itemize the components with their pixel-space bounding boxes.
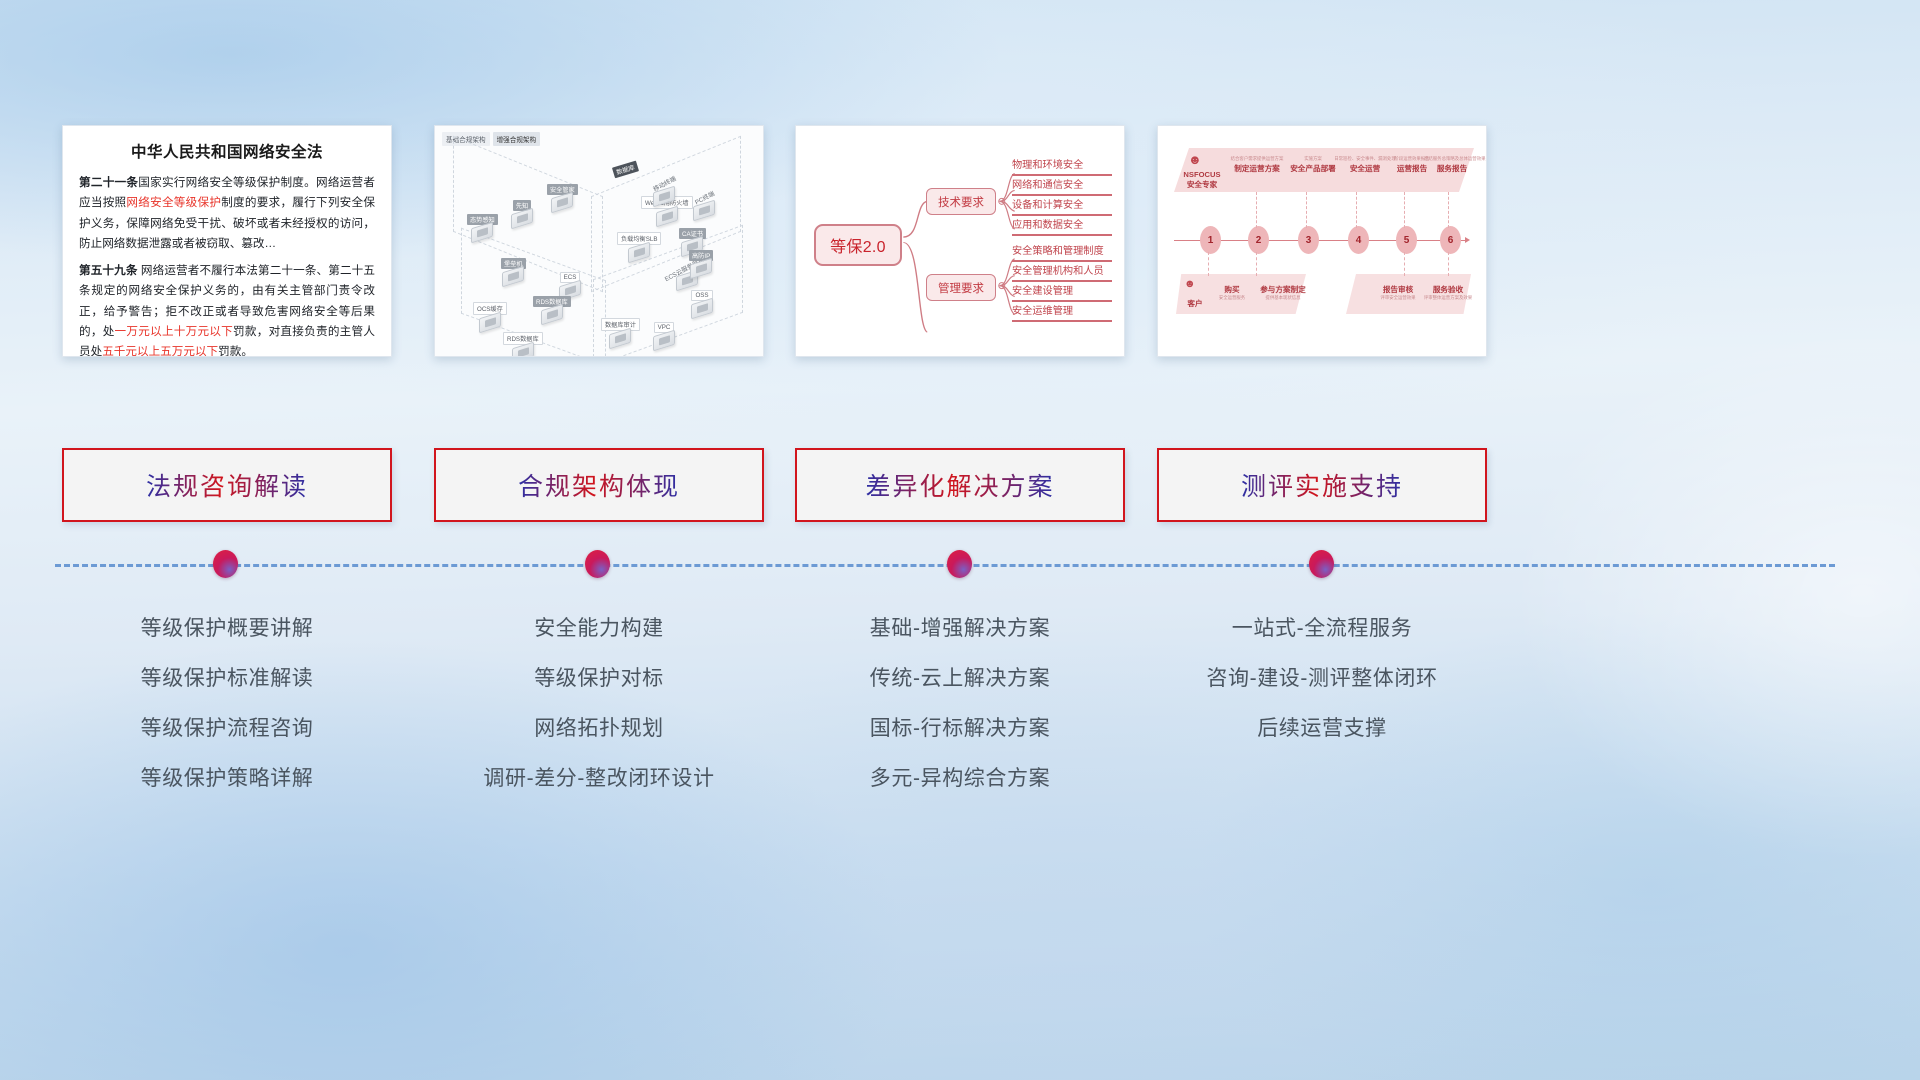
list-item[interactable]: 等级保护概要讲解 xyxy=(62,604,392,654)
card-architecture-diagram[interactable]: 基础合规架构 增强合规架构 数据库 安全管家 先知 态势感知 xyxy=(434,125,764,357)
node-anqishi: RDS数据库 xyxy=(533,296,571,322)
list-item[interactable]: 国标-行标解决方案 xyxy=(795,704,1125,754)
list-item[interactable]: 多元-异构综合方案 xyxy=(795,754,1125,804)
mindmap-leaf-construction: 安全建设管理 xyxy=(1012,286,1112,302)
node-situational-awareness: 态势感知 xyxy=(467,214,498,240)
expert-person-icon: ☻ xyxy=(1188,152,1202,167)
article-59-highlight-2: 五千元以上五万元以下 xyxy=(102,345,218,357)
title-box-regulation-consulting[interactable]: 法规咨询解读 xyxy=(62,448,392,522)
nsfocus-step-5: 总结服务总策略及总体运营效果 服务报告 xyxy=(1424,156,1480,174)
list-item[interactable]: 咨询-建设-测评整体闭环 xyxy=(1157,654,1487,704)
mindmap-leaf-policy: 安全策略和管理制度 xyxy=(1012,246,1112,262)
nsfocus-expert: NSFOCUS 安全专家 xyxy=(1176,170,1228,190)
architecture-canvas: 基础合规架构 增强合规架构 数据库 安全管家 先知 态势感知 xyxy=(435,126,763,356)
title-boxes-row: 法规咨询解读 合规架构体现 差异化解决方案 测评实施支持 xyxy=(0,448,1920,522)
timeline-marker-4[interactable] xyxy=(1309,550,1334,578)
title-text-2: 合规架构体现 xyxy=(518,467,680,503)
node-vpc: VPC xyxy=(653,322,675,348)
architecture-nodes: 数据库 安全管家 先知 态势感知 堡垒机 ECS RDS数据库 xyxy=(441,144,757,350)
timeline-node-2: 2 xyxy=(1248,226,1269,254)
connector-dash-3 xyxy=(1306,192,1307,228)
connector-dash-b1 xyxy=(1208,252,1209,276)
node-rds-db: RDS数据库 xyxy=(503,332,543,357)
title-box-evaluation-support[interactable]: 测评实施支持 xyxy=(1157,448,1487,522)
title-box-compliance-architecture[interactable]: 合规架构体现 xyxy=(434,448,764,522)
timeline-node-1: 1 xyxy=(1200,226,1221,254)
timeline-node-6: 6 xyxy=(1440,226,1461,254)
mindmap-leaf-device: 设备和计算安全 xyxy=(1012,200,1112,216)
law-article-21: 第二十一条国家实行网络安全等级保护制度。网络运营者应当按照网络安全等级保护制度的… xyxy=(79,173,375,254)
node-ecs: ECS xyxy=(559,272,581,298)
nsfocus-bottom-1: 购买 安全运营服务 xyxy=(1210,284,1254,302)
list-item[interactable]: 安全能力构建 xyxy=(434,604,764,654)
list-column-solution: 基础-增强解决方案 传统-云上解决方案 国标-行标解决方案 多元-异构综合方案 xyxy=(795,604,1125,804)
nsfocus-canvas: ☻ NSFOCUS 安全专家 结合客户需求提供运营方案 制定运营方案 实施方案 … xyxy=(1158,126,1486,356)
article-59-highlight-1: 一万元以上十万元以下 xyxy=(115,325,233,338)
nsfocus-customer: 客户 xyxy=(1180,298,1210,309)
article-21-highlight: 网络安全等级保护 xyxy=(126,196,221,209)
timeline-dashed-line xyxy=(55,564,1835,567)
connector-dash-b3 xyxy=(1404,252,1405,276)
node-pc-terminal: PC终端 xyxy=(691,192,718,218)
mindmap-leaf-operation: 安全运维管理 xyxy=(1012,306,1112,322)
timeline-node-3: 3 xyxy=(1298,226,1319,254)
screenshot-cards-row: 中华人民共和国网络安全法 第二十一条国家实行网络安全等级保护制度。网络运营者应当… xyxy=(0,125,1920,365)
article-59-label: 第五十九条 xyxy=(79,264,138,277)
node-bastion-host: 堡垒机 xyxy=(501,258,526,284)
node-db-audit: 数据库审计 xyxy=(601,318,640,346)
connector-dash-b4 xyxy=(1448,252,1449,276)
nsfocus-bottom-2: 参与方案制定 提供基本现状信息 xyxy=(1252,284,1314,302)
connector-dash-4 xyxy=(1356,192,1357,228)
list-item[interactable]: 一站式-全流程服务 xyxy=(1157,604,1487,654)
timeline-node-4: 4 xyxy=(1348,226,1369,254)
article-59-text-c: 罚款。 xyxy=(218,345,253,357)
connector-dash-b2 xyxy=(1256,252,1257,276)
list-item[interactable]: 网络拓扑规划 xyxy=(434,704,764,754)
process-timeline xyxy=(55,562,1835,566)
connector-dash-5 xyxy=(1404,192,1405,228)
card-nsfocus-timeline[interactable]: ☻ NSFOCUS 安全专家 结合客户需求提供运营方案 制定运营方案 实施方案 … xyxy=(1157,125,1487,357)
node-anti-ddos-ip: 高防IP xyxy=(689,250,713,276)
node-mobile-terminal: 移动终端 xyxy=(649,178,680,204)
list-item[interactable]: 等级保护对标 xyxy=(434,654,764,704)
list-item[interactable]: 传统-云上解决方案 xyxy=(795,654,1125,704)
timeline-marker-1[interactable] xyxy=(213,550,238,578)
list-item[interactable]: 调研-差分-整改闭环设计 xyxy=(434,754,764,804)
node-security-steward: 安全管家 xyxy=(547,184,578,210)
mindmap-leaf-physical: 物理和环境安全 xyxy=(1012,160,1112,176)
list-item[interactable]: 等级保护策略详解 xyxy=(62,754,392,804)
law-body: 中华人民共和国网络安全法 第二十一条国家实行网络安全等级保护制度。网络运营者应当… xyxy=(63,126,391,357)
node-slb: 负载均衡SLB xyxy=(617,232,661,260)
title-text-3: 差异化解决方案 xyxy=(865,467,1054,503)
title-text-1: 法规咨询解读 xyxy=(146,467,308,503)
timeline-marker-2[interactable] xyxy=(585,550,610,578)
law-title: 中华人民共和国网络安全法 xyxy=(79,140,375,162)
node-xianzhi: 先知 xyxy=(511,200,533,226)
connector-dash-2 xyxy=(1256,192,1257,228)
list-column-evaluation: 一站式-全流程服务 咨询-建设-测评整体闭环 后续运营支撑 xyxy=(1157,604,1487,754)
mindmap-leaf-network: 网络和通信安全 xyxy=(1012,180,1112,196)
timeline-marker-3[interactable] xyxy=(947,550,972,578)
card-law-text[interactable]: 中华人民共和国网络安全法 第二十一条国家实行网络安全等级保护制度。网络运营者应当… xyxy=(62,125,392,357)
node-ocs-cache: OCS缓存 xyxy=(473,302,507,330)
list-item[interactable]: 后续运营支撑 xyxy=(1157,704,1487,754)
list-item[interactable]: 基础-增强解决方案 xyxy=(795,604,1125,654)
mindmap-canvas: 等保2.0 技术要求 管理要求 物理和环境安全 网络和通信安全 设备和计算安全 … xyxy=(796,126,1124,356)
title-text-4: 测评实施支持 xyxy=(1241,467,1403,503)
list-column-architecture: 安全能力构建 等级保护对标 网络拓扑规划 调研-差分-整改闭环设计 xyxy=(434,604,764,804)
mindmap-leaf-org: 安全管理机构和人员 xyxy=(1012,266,1112,282)
list-column-regulation: 等级保护概要讲解 等级保护标准解读 等级保护流程咨询 等级保护策略详解 xyxy=(62,604,392,804)
mindmap-branch-management: 管理要求 xyxy=(926,274,996,301)
nsfocus-bottom-4: 服务验收 评审整体运营方案及效果 xyxy=(1420,284,1476,302)
mindmap-branch-technical: 技术要求 xyxy=(926,188,996,215)
list-item[interactable]: 等级保护流程咨询 xyxy=(62,704,392,754)
connector-dash-6 xyxy=(1448,192,1449,228)
node-cloud-label: 数据库 xyxy=(612,161,639,179)
mindmap-leaf-application: 应用和数据安全 xyxy=(1012,220,1112,236)
card-mindmap[interactable]: 等保2.0 技术要求 管理要求 物理和环境安全 网络和通信安全 设备和计算安全 … xyxy=(795,125,1125,357)
list-item[interactable]: 等级保护标准解读 xyxy=(62,654,392,704)
customer-person-icon: ☻ xyxy=(1184,278,1196,290)
mindmap-root: 等保2.0 xyxy=(814,224,902,266)
title-box-differentiated-solution[interactable]: 差异化解决方案 xyxy=(795,448,1125,522)
node-oss: OSS xyxy=(691,290,713,316)
law-article-59: 第五十九条 网络运营者不履行本法第二十一条、第二十五条规定的网络安全保护义务的，… xyxy=(79,261,375,357)
timeline-node-5: 5 xyxy=(1396,226,1417,254)
nsfocus-bottom-3: 报告审核 评审安全运营效果 xyxy=(1370,284,1426,302)
article-21-label: 第二十一条 xyxy=(79,176,138,189)
